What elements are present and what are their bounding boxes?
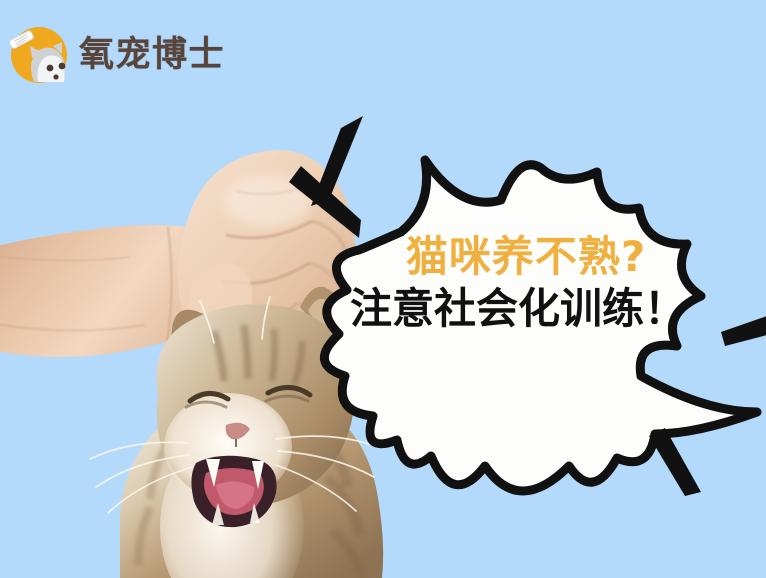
brand-name: 氧宠博士 (79, 38, 225, 73)
cat-in-circle-icon (8, 24, 70, 86)
brand-logo[interactable]: 氧宠博士 (8, 24, 225, 86)
comic-speech-burst (305, 120, 766, 520)
poster-canvas: 猫咪养不熟? 注意社会化训练！ (0, 0, 766, 578)
burst-outline-shape (324, 160, 757, 491)
